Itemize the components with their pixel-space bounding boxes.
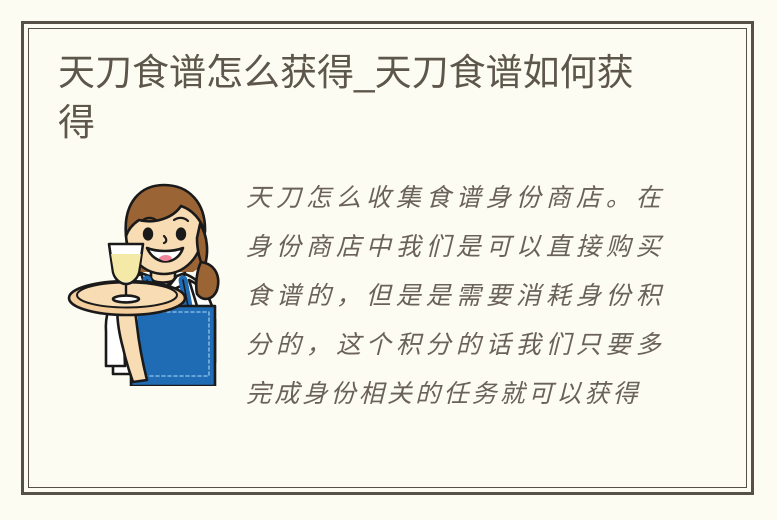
article-paragraph: 天刀怎么收集食谱身份商店。在身份商店中我们是可以直接购买食谱的，但是是需要消耗身… bbox=[238, 172, 664, 419]
eye-left bbox=[143, 227, 153, 240]
page-frame: 天刀食谱怎么获得_天刀食谱如何获得 bbox=[21, 21, 754, 495]
article-content: 天刀食谱怎么获得_天刀食谱如何获得 bbox=[24, 24, 751, 492]
eye-right bbox=[176, 227, 186, 240]
article-illustration bbox=[58, 172, 238, 386]
hair-ponytail bbox=[196, 262, 218, 299]
waitress-with-tray-icon bbox=[63, 176, 233, 386]
glass-foot bbox=[113, 296, 139, 303]
article-body: 天刀怎么收集食谱身份商店。在身份商店中我们是可以直接购买食谱的，但是是需要消耗身… bbox=[54, 172, 723, 419]
page-title: 天刀食谱怎么获得_天刀食谱如何获得 bbox=[54, 48, 658, 148]
